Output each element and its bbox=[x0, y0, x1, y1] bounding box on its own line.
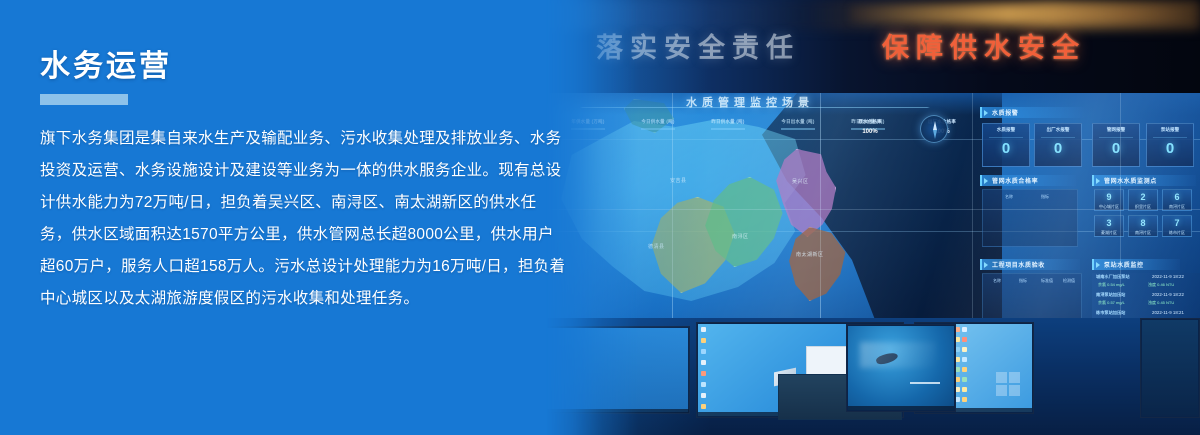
dashboard-title: 水质管理监控场景 bbox=[620, 94, 880, 110]
monitor-screen bbox=[520, 328, 688, 412]
chevron-right-icon bbox=[984, 178, 988, 184]
map-region-label: 吴兴区 bbox=[792, 178, 809, 185]
alarm-card-value: 0 bbox=[1035, 140, 1081, 157]
alarm-card-label: 出厂水报警 bbox=[1035, 127, 1081, 133]
map-region-label: 南浔区 bbox=[732, 233, 749, 240]
monitor-point-cell[interactable]: 2 织里片区 bbox=[1128, 189, 1158, 211]
desktop-icon-grid[interactable] bbox=[701, 327, 706, 413]
alarm-card[interactable]: 管网报警 0 bbox=[1092, 123, 1140, 167]
section-title: 泵站水质监控 bbox=[1104, 260, 1144, 269]
monitor-taskbar bbox=[848, 406, 954, 410]
windows-logo-icon bbox=[996, 372, 1022, 398]
alarm-card-label: 管网报警 bbox=[1093, 127, 1139, 133]
dashboard-right-column: 水质报警 水质报警 0 出厂水报警 0 管网报警 0 bbox=[980, 107, 1200, 325]
wall-bezel-seam bbox=[520, 209, 1200, 210]
compass-icon bbox=[920, 115, 948, 143]
legend-label: 名称 bbox=[1005, 194, 1013, 200]
section-title: 管网水水质监测点 bbox=[1104, 176, 1157, 185]
gauge-value: 100% bbox=[838, 129, 902, 135]
pump-log-value-2: 浊度 0.46 NTU bbox=[1148, 282, 1174, 288]
qualify-rate-chart-panel: 名称 指标 bbox=[982, 189, 1078, 247]
monitor-point-value: 6 bbox=[1163, 192, 1191, 202]
monitor-point-value: 3 bbox=[1095, 218, 1123, 228]
monitor-left-blank[interactable] bbox=[520, 326, 690, 414]
table-col-header: 标准值 bbox=[1041, 278, 1053, 284]
kpi-underline bbox=[781, 128, 815, 130]
monitor-point-value: 2 bbox=[1129, 192, 1157, 202]
kpi-underline bbox=[641, 128, 675, 130]
section-title: 管网水质合格率 bbox=[992, 176, 1038, 185]
monitor-right-edge[interactable] bbox=[1140, 318, 1200, 418]
map-region-label: 德清县 bbox=[648, 243, 665, 250]
alarm-card[interactable]: 泵站报警 0 bbox=[1146, 123, 1194, 167]
chevron-right-icon bbox=[984, 262, 988, 268]
video-wall: 安吉县 德清县 南浔区 吴兴区 南太湖新区 水质管理监控场景 年供水量 (万吨)… bbox=[520, 93, 1200, 325]
alarm-card[interactable]: 水质报警 0 bbox=[982, 123, 1030, 167]
monitor-point-label: 南浔片区 bbox=[1129, 230, 1157, 236]
table-col-header: 检测值 bbox=[1063, 278, 1075, 284]
alarm-card-value: 0 bbox=[1147, 140, 1193, 157]
kpi-item: 今日供水量 (吨) bbox=[626, 119, 690, 130]
monitor-screen bbox=[1142, 320, 1198, 416]
section-title: 工程项目水质验收 bbox=[992, 260, 1045, 269]
chevron-right-icon bbox=[1096, 262, 1100, 268]
chevron-right-icon bbox=[1096, 178, 1100, 184]
alarm-card-label: 泵站报警 bbox=[1147, 127, 1193, 133]
section-description: 旗下水务集团是集自来水生产及输配业务、污水收集处理及排放业务、水务投资及运营、水… bbox=[40, 123, 568, 315]
monitor-point-cell[interactable]: 6 南浔片区 bbox=[1162, 189, 1192, 211]
alarm-card-value: 0 bbox=[1093, 140, 1139, 157]
pump-log-name: 城南水厂加压泵站 bbox=[1096, 274, 1130, 280]
monitor-point-label: 练市片区 bbox=[1163, 230, 1191, 236]
pump-log-time: 2022-11-9 18:21 bbox=[1152, 310, 1184, 315]
alarm-card-label: 水质报警 bbox=[983, 127, 1029, 133]
section-header-monitor-points: 管网水水质监测点 bbox=[1092, 175, 1196, 186]
table-col-header: 名称 bbox=[993, 278, 1001, 284]
alarm-card[interactable]: 出厂水报警 0 bbox=[1034, 123, 1082, 167]
title-underline-bar bbox=[40, 94, 128, 105]
wallpaper-caption-bar bbox=[910, 382, 940, 384]
monitor-point-cell[interactable]: 7 练市片区 bbox=[1162, 215, 1192, 237]
ceiling-warm-strip bbox=[850, 6, 1200, 22]
monitor-point-value: 8 bbox=[1129, 218, 1157, 228]
monitor-point-value: 7 bbox=[1163, 218, 1191, 228]
monitor-taskbar bbox=[520, 409, 689, 413]
pump-log-time: 2022-11-9 18:22 bbox=[1152, 292, 1184, 297]
wall-slogan-left: 落实安全责任 bbox=[596, 26, 800, 65]
section-title: 水质报警 bbox=[992, 108, 1018, 117]
wall-slogan-right: 保障供水安全 bbox=[882, 26, 1086, 65]
monitor-point-label: 菱湖片区 bbox=[1095, 230, 1123, 236]
alarm-card-divider bbox=[1041, 137, 1075, 138]
kpi-label: 今日供水量 (吨) bbox=[626, 119, 690, 125]
pump-log-value-2: 浊度 0.45 NTU bbox=[1148, 300, 1174, 306]
section-header-alarm: 水质报警 bbox=[980, 107, 1084, 118]
operator-desk-row bbox=[520, 318, 1200, 435]
table-col-header: 指标 bbox=[1019, 278, 1027, 284]
pump-log-time: 2022-11-9 18:22 bbox=[1152, 274, 1184, 279]
gauge-item-raw: 原水合格率 100% bbox=[838, 119, 902, 135]
monitor-screen bbox=[848, 326, 954, 410]
section-header-pump-station: 泵站水质监控 bbox=[1092, 259, 1180, 270]
alarm-card-divider bbox=[1099, 137, 1133, 138]
alarm-card-divider bbox=[1153, 137, 1187, 138]
monitor-diver-wallpaper[interactable] bbox=[846, 324, 956, 412]
kpi-item: 昨日供水量 (吨) bbox=[696, 119, 760, 130]
control-room-photo: 落实安全责任 保障供水安全 安吉县 德清县 南浔区 吴兴区 南太湖新区 bbox=[520, 0, 1200, 435]
section-header-project-acceptance: 工程项目水质验收 bbox=[980, 259, 1080, 270]
banner-stage: 落实安全责任 保障供水安全 安吉县 德清县 南浔区 吴兴区 南太湖新区 bbox=[0, 0, 1200, 435]
alarm-card-value: 0 bbox=[983, 140, 1029, 157]
text-content-block: 水务运营 旗下水务集团是集自来水生产及输配业务、污水收集处理及排放业务、水务投资… bbox=[40, 50, 570, 315]
project-acceptance-table: 名称 指标 标准值 检测值 bbox=[982, 273, 1082, 323]
page-title: 水务运营 bbox=[40, 50, 570, 83]
gauge-label: 原水合格率 bbox=[838, 119, 902, 125]
monitor-point-value: 9 bbox=[1095, 192, 1123, 202]
section-header-qualify-rate: 管网水质合格率 bbox=[980, 175, 1076, 186]
legend-label: 指标 bbox=[1041, 194, 1049, 200]
water-light-ray bbox=[860, 342, 936, 368]
kpi-label: 昨日供水量 (吨) bbox=[696, 119, 760, 125]
monitor-point-cell[interactable]: 8 南浔片区 bbox=[1128, 215, 1158, 237]
kpi-underline bbox=[711, 128, 745, 130]
alarm-card-divider bbox=[989, 137, 1023, 138]
chevron-right-icon bbox=[984, 110, 988, 116]
kpi-underline bbox=[571, 128, 605, 130]
